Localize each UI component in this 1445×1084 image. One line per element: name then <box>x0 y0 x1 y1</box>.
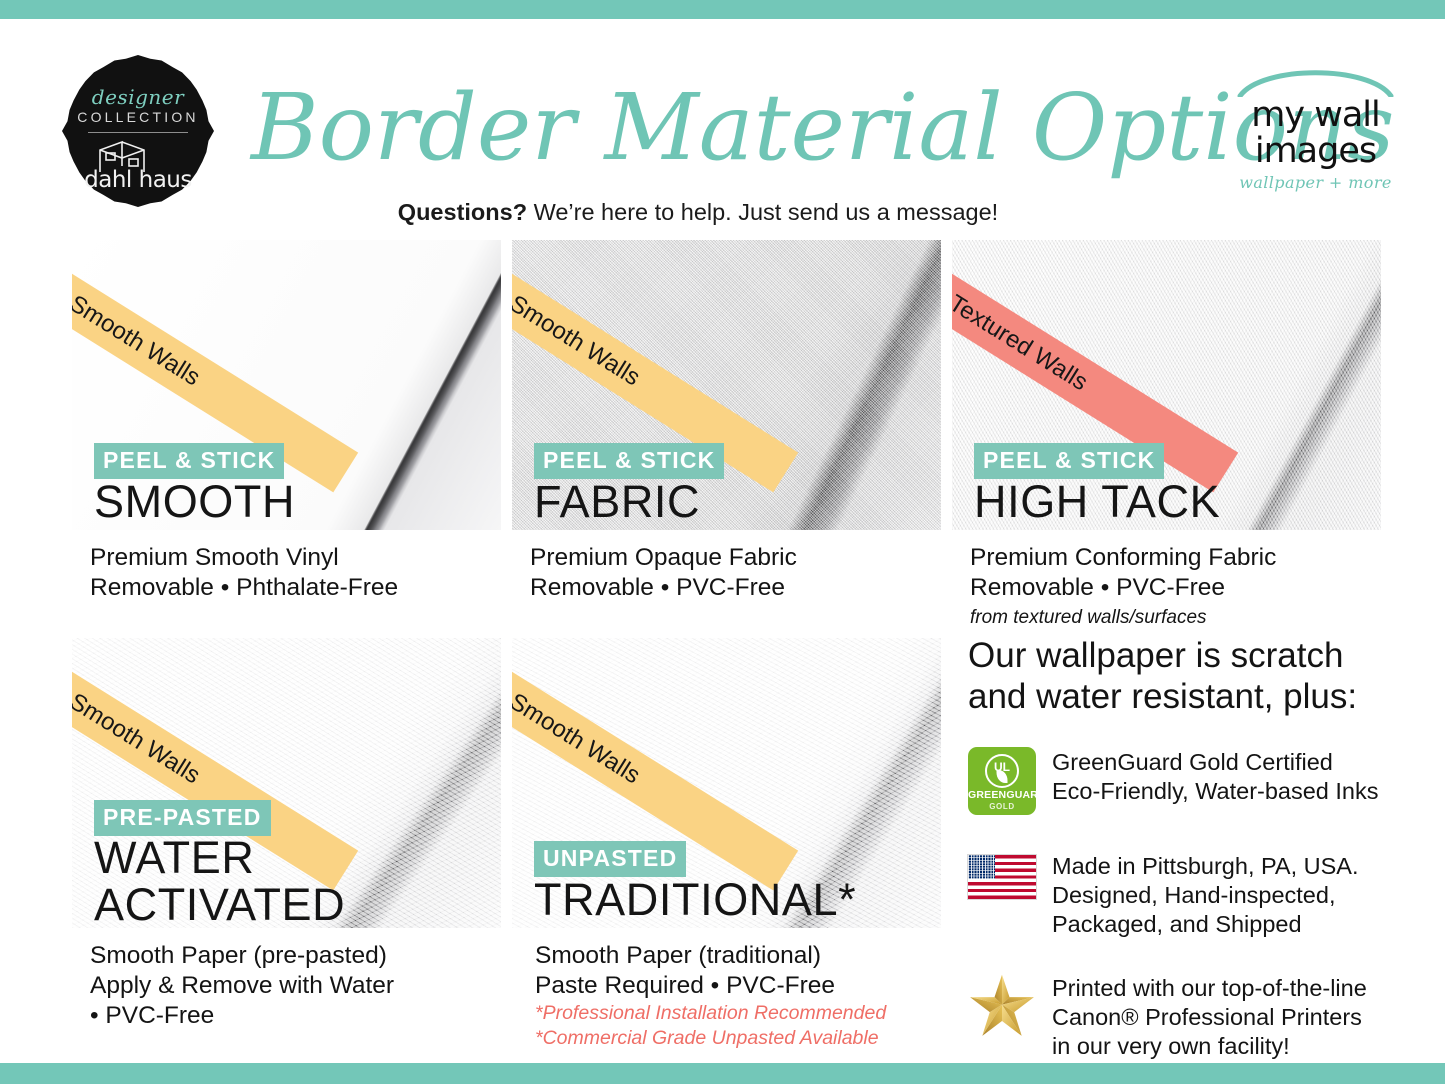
card-badge: PEEL & STICK <box>94 443 284 479</box>
logo-line-1: my wall <box>1228 97 1403 133</box>
greenguard-label: GREENGUARD <box>968 789 1036 801</box>
feature-greenguard: UL GREENGUARD GOLD GreenGuard Gold Certi… <box>968 747 1398 815</box>
page-root: designer COLLECTION dahl haus Border <box>0 0 1445 1084</box>
feature-text: GreenGuard Gold Certified Eco-Friendly, … <box>1052 747 1379 806</box>
header: designer COLLECTION dahl haus Border <box>0 19 1445 229</box>
desc-line: Smooth Paper (traditional) <box>535 941 965 971</box>
desc-line: Premium Opaque Fabric <box>530 543 950 573</box>
card-description-fabric: Premium Opaque Fabric Removable • PVC-Fr… <box>530 543 950 603</box>
seal-designer-text: designer <box>62 85 214 109</box>
desc-line: Removable • PVC-Free <box>530 573 950 603</box>
seal-divider <box>88 132 188 133</box>
material-card-fabric[interactable]: for Smooth Walls PEEL & STICK FABRIC <box>512 240 941 530</box>
feature-made-in-usa: Made in Pittsburgh, PA, USA. Designed, H… <box>968 851 1398 939</box>
card-name: TRADITIONAL* <box>534 876 856 923</box>
desc-line: Removable • PVC-Free <box>970 573 1400 603</box>
top-accent-band <box>0 0 1445 19</box>
feature-text: Made in Pittsburgh, PA, USA. Designed, H… <box>1052 851 1359 939</box>
card-badge: PEEL & STICK <box>974 443 1164 479</box>
logo-line-2: images <box>1228 133 1403 169</box>
material-card-traditional[interactable]: for Smooth Walls UNPASTED TRADITIONAL* <box>512 638 941 928</box>
desc-note-red: *Commercial Grade Unpasted Available <box>535 1026 965 1051</box>
ul-circle-icon: UL <box>985 754 1019 788</box>
seal-brand-text: dahl haus <box>62 167 214 193</box>
greenguard-gold-badge-icon: UL GREENGUARD GOLD <box>968 747 1036 815</box>
gold-star-icon <box>968 973 1036 1039</box>
desc-line: Premium Conforming Fabric <box>970 543 1400 573</box>
card-badge: PEEL & STICK <box>534 443 724 479</box>
page-title: Border Material Options <box>243 67 1153 187</box>
desc-note-italic: from textured walls/surfaces <box>970 603 1400 633</box>
card-badge: PRE-PASTED <box>94 800 271 836</box>
subtitle-rest: We’re here to help. Just send us a messa… <box>527 199 998 225</box>
page-title-text: Border Material Options <box>249 74 1395 181</box>
subtitle-questions: Questions? <box>398 199 527 225</box>
logo-tagline: wallpaper + more <box>1228 173 1403 192</box>
card-name: HIGH TACK <box>974 478 1220 525</box>
card-name: FABRIC <box>534 478 700 525</box>
material-card-water-activated[interactable]: for Smooth Walls PRE-PASTED WATER ACTIVA… <box>72 638 501 928</box>
feature-text: Printed with our top-of-the-line Canon® … <box>1052 973 1367 1061</box>
feature-canon-printers: Printed with our top-of-the-line Canon® … <box>968 973 1398 1061</box>
card-name: SMOOTH <box>94 478 295 525</box>
desc-line: Removable • Phthalate-Free <box>90 573 510 603</box>
card-badge: UNPASTED <box>534 841 686 877</box>
material-card-smooth[interactable]: for Smooth Walls PEEL & STICK SMOOTH <box>72 240 501 530</box>
desc-line: Apply & Remove with Water <box>90 971 510 1001</box>
greenguard-gold-label: GOLD <box>968 802 1036 811</box>
desc-line: • PVC-Free <box>90 1001 510 1031</box>
card-name: WATER ACTIVATED <box>94 834 345 928</box>
desc-line: Smooth Paper (pre-pasted) <box>90 941 510 971</box>
designer-collection-seal: designer COLLECTION dahl haus <box>62 55 214 207</box>
my-wall-images-logo: my wall images wallpaper + more <box>1228 67 1403 207</box>
desc-line: Premium Smooth Vinyl <box>90 543 510 573</box>
features-heading: Our wallpaper is scratch and water resis… <box>968 635 1398 717</box>
usa-flag-icon <box>968 855 1036 899</box>
desc-line: Paste Required • PVC-Free <box>535 971 965 1001</box>
features-panel: Our wallpaper is scratch and water resis… <box>968 635 1398 1061</box>
material-card-high-tack[interactable]: for Textured Walls PEEL & STICK HIGH TAC… <box>952 240 1381 530</box>
subtitle: Questions? We’re here to help. Just send… <box>243 199 1153 226</box>
bottom-accent-band <box>0 1063 1445 1084</box>
card-description-high-tack: Premium Conforming Fabric Removable • PV… <box>970 543 1400 633</box>
arc-icon <box>1228 67 1403 97</box>
seal-collection-text: COLLECTION <box>62 109 214 125</box>
flag-union <box>968 855 995 879</box>
card-description-traditional: Smooth Paper (traditional) Paste Require… <box>535 941 965 1051</box>
card-description-water-activated: Smooth Paper (pre-pasted) Apply & Remove… <box>90 941 510 1031</box>
desc-note-red: *Professional Installation Recommended <box>535 1001 965 1026</box>
card-description-smooth: Premium Smooth Vinyl Removable • Phthala… <box>90 543 510 603</box>
